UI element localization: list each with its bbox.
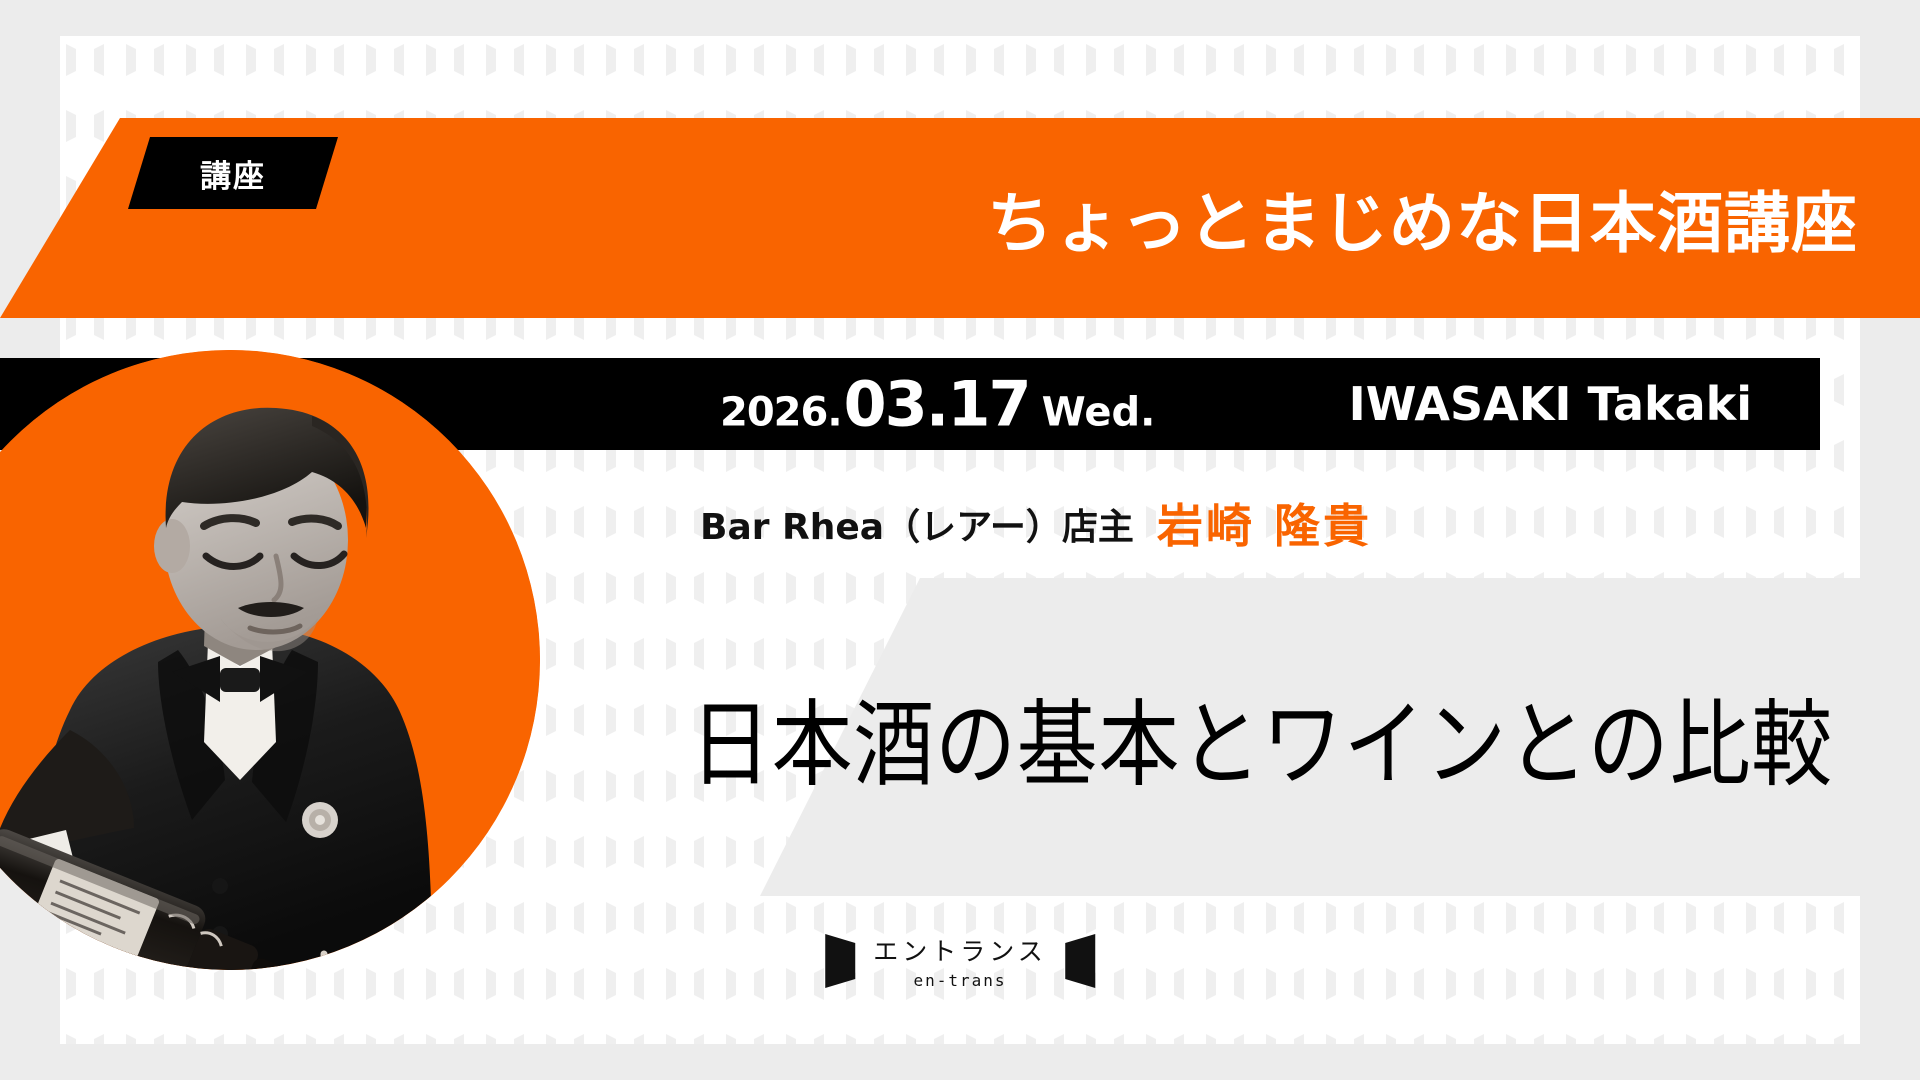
event-year: 2026. [720, 390, 842, 436]
flyer-canvas: ちょっとまじめな日本酒講座 講座 2026. 03.17 Wed. IWASAK… [0, 0, 1920, 1080]
entrance-door-right-icon [1063, 930, 1097, 992]
brand-name-roman: en-trans [913, 971, 1006, 990]
category-badge: 講座 [128, 137, 338, 209]
event-date: 2026. 03.17 Wed. [720, 368, 1155, 441]
subject-title: 日本酒の基本とワインとの比較 [690, 578, 1662, 896]
speaker-affiliation: Bar Rhea（レアー）店主 [700, 498, 1134, 550]
event-monthday: 03.17 [844, 368, 1030, 441]
speaker-portrait [0, 350, 540, 970]
page-title: ちょっとまじめな日本酒講座 [987, 170, 1858, 266]
category-badge-label: 講座 [200, 151, 266, 196]
speaker-name-japanese: 岩崎 隆貴 [1157, 490, 1372, 556]
entrance-door-left-icon [823, 930, 857, 992]
speaker-name-romaji: IWASAKI Takaki [1349, 377, 1752, 431]
brand-logo: エントランス en-trans [823, 930, 1097, 992]
brand-name-kana: エントランス [873, 932, 1047, 968]
brand-logo-text: エントランス en-trans [873, 932, 1047, 990]
event-weekday: Wed. [1042, 390, 1156, 436]
